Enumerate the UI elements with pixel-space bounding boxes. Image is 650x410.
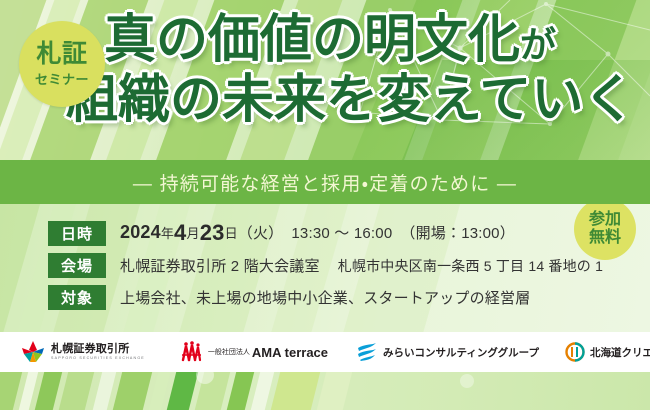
headline-line-1-main: 真の価値の明文化	[104, 11, 520, 69]
info-row-venue: 会場 札幌証券取引所 2 階大会議室札幌市中央区南一条西 5 丁目 14 番地の…	[48, 253, 603, 278]
free-admission-badge: 参加 無料	[574, 204, 636, 260]
bottom-decoration-strip	[0, 372, 650, 410]
info-value-datetime: 2024年4月23日（火）13:30 〜 16:00（開場：13:00）	[120, 220, 515, 246]
info-row-audience: 対象 上場会社、未上場の地場中小企業、スタートアップの経営層	[48, 285, 603, 310]
seminar-badge-sub: セミナー	[35, 73, 89, 86]
venue-address: 札幌市中央区南一条西 5 丁目 14 番地の 1	[338, 258, 603, 274]
info-tag-venue: 会場	[48, 253, 106, 278]
logo-sapporo-name: 札幌証券取引所	[51, 344, 145, 355]
month-unit: 月	[186, 226, 199, 241]
info-rows: 日時 2024年4月23日（火）13:30 〜 16:00（開場：13:00） …	[48, 220, 603, 310]
hokkaido-creative-icon	[565, 342, 585, 362]
free-admission-line-2: 無料	[589, 229, 621, 247]
logo-hokkaido-name: 北海道クリエイティブ株式会社	[590, 345, 650, 360]
year-value: 2024	[120, 222, 161, 242]
sapporo-star-icon	[20, 340, 46, 364]
info-value-venue: 札幌証券取引所 2 階大会議室札幌市中央区南一条西 5 丁目 14 番地の 1	[120, 255, 603, 276]
logo-ama-prefix: 一般社団法人	[208, 347, 250, 357]
logo-sapporo-text: 札幌証券取引所 SAPPORO SECURITIES EXCHANGE	[51, 344, 145, 361]
logo-ama-name: AMA terrace	[252, 345, 328, 360]
bottom-dot	[460, 374, 474, 388]
seminar-flyer: 札証 セミナー 真の価値の明文化が 組織の未来を変えていく ― 持続可能な経営と…	[0, 0, 650, 410]
mirai-swoosh-icon	[356, 342, 378, 362]
subtitle-band: ― 持続可能な経営と採用・定着のために ―	[0, 160, 650, 204]
logo-mirai-name: みらいコンサルティンググループ	[383, 345, 539, 360]
headline: 真の価値の明文化が 組織の未来を変えていく	[104, 14, 644, 126]
info-row-datetime: 日時 2024年4月23日（火）13:30 〜 16:00（開場：13:00）	[48, 220, 603, 246]
free-admission-line-1: 参加	[589, 211, 621, 229]
logo-hokkaido-creative: 北海道クリエイティブ株式会社	[565, 342, 650, 362]
time-value: 13:30 〜 16:00	[291, 225, 392, 242]
info-value-audience: 上場会社、未上場の地場中小企業、スタートアップの経営層	[120, 287, 530, 308]
day-value: 23	[200, 220, 225, 245]
seminar-badge: 札証 セミナー	[19, 21, 105, 107]
info-tag-audience: 対象	[48, 285, 106, 310]
headline-line-2: 組織の未来を変えていく	[66, 74, 644, 126]
seminar-badge-main: 札証	[36, 42, 87, 67]
headline-line-1-particle: が	[520, 24, 556, 65]
logo-sapporo-subtitle: SAPPORO SECURITIES EXCHANGE	[51, 357, 145, 361]
weekday-value: （火）	[238, 225, 284, 242]
subtitle-text: ― 持続可能な経営と採用・定着のために ―	[133, 169, 517, 196]
day-unit: 日	[225, 226, 238, 241]
open-time-value: （開場：13:00）	[400, 225, 515, 242]
ama-terrace-icon	[179, 341, 203, 363]
year-unit: 年	[161, 226, 174, 241]
logo-mirai-consulting-group: みらいコンサルティンググループ	[356, 342, 539, 362]
info-section: 参加 無料 日時 2024年4月23日（火）13:30 〜 16:00（開場：1…	[0, 204, 650, 332]
month-value: 4	[174, 220, 186, 245]
venue-name: 札幌証券取引所 2 階大会議室	[120, 258, 320, 275]
info-tag-datetime: 日時	[48, 221, 106, 246]
logo-ama-terrace: 一般社団法人 AMA terrace	[179, 341, 328, 363]
logo-sapporo-securities-exchange: 札幌証券取引所 SAPPORO SECURITIES EXCHANGE	[20, 340, 145, 364]
hero-section: 札証 セミナー 真の価値の明文化が 組織の未来を変えていく	[0, 0, 650, 160]
sponsor-logo-bar: 札幌証券取引所 SAPPORO SECURITIES EXCHANGE 一般社団…	[0, 332, 650, 372]
headline-line-1: 真の価値の明文化が	[104, 14, 644, 66]
